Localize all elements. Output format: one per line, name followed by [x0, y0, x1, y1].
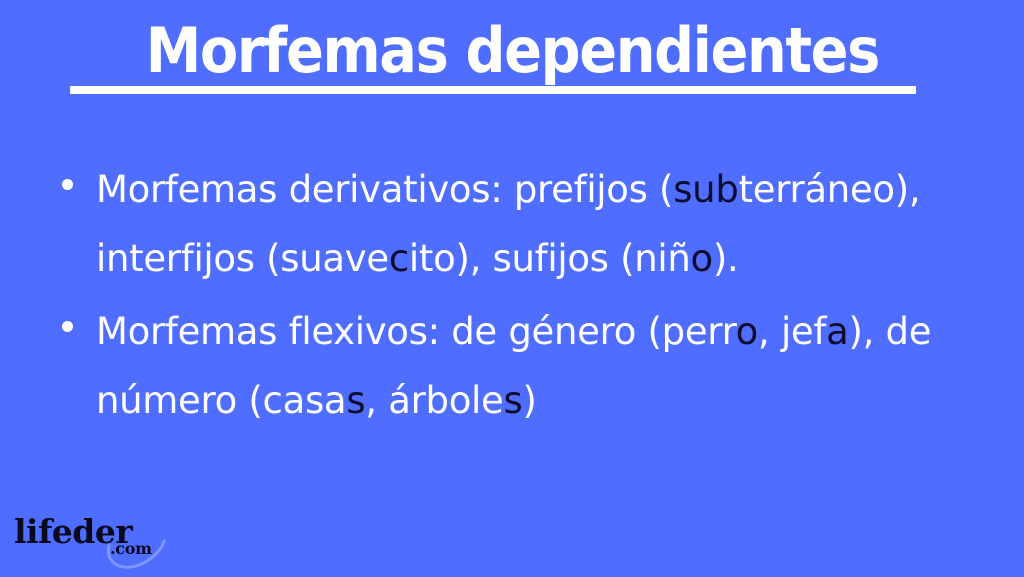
bullet-list: Morfemas derivativos: prefijos (subterrá… — [56, 155, 976, 439]
highlighted-morpheme: s — [346, 379, 365, 422]
slide-canvas: Morfemas dependientes Morfemas derivativ… — [0, 0, 1024, 577]
bullet-dot-icon — [62, 321, 73, 332]
list-item: Morfemas flexivos: de género (perro, jef… — [56, 297, 976, 435]
lifeder-logo[interactable]: lifeder .com — [12, 513, 187, 565]
text-run: Morfemas flexivos: de género (perr — [96, 310, 736, 353]
text-run: ) — [522, 379, 536, 422]
highlighted-morpheme: o — [736, 310, 758, 353]
list-item-text: Morfemas flexivos: de género (perro, jef… — [96, 297, 976, 435]
highlighted-morpheme: o — [691, 237, 713, 280]
list-item: Morfemas derivativos: prefijos (subterrá… — [56, 155, 976, 293]
text-run: , jef — [758, 310, 826, 353]
title-underline — [70, 86, 916, 94]
highlighted-morpheme: s — [503, 379, 522, 422]
highlighted-morpheme: sub — [673, 168, 738, 211]
title-block: Morfemas dependientes — [0, 18, 1024, 83]
text-run: , árbole — [365, 379, 503, 422]
list-item-text: Morfemas derivativos: prefijos (subterrá… — [96, 155, 976, 293]
logo-tld: .com — [110, 541, 152, 557]
text-run: ito), sufijos (niñ — [409, 237, 691, 280]
bullet-dot-icon — [62, 179, 73, 190]
page-title: Morfemas dependientes — [142, 18, 882, 83]
highlighted-morpheme: c — [389, 237, 409, 280]
text-run: ). — [713, 237, 739, 280]
highlighted-morpheme: a — [826, 310, 848, 353]
text-run: Morfemas derivativos: prefijos ( — [96, 168, 673, 211]
